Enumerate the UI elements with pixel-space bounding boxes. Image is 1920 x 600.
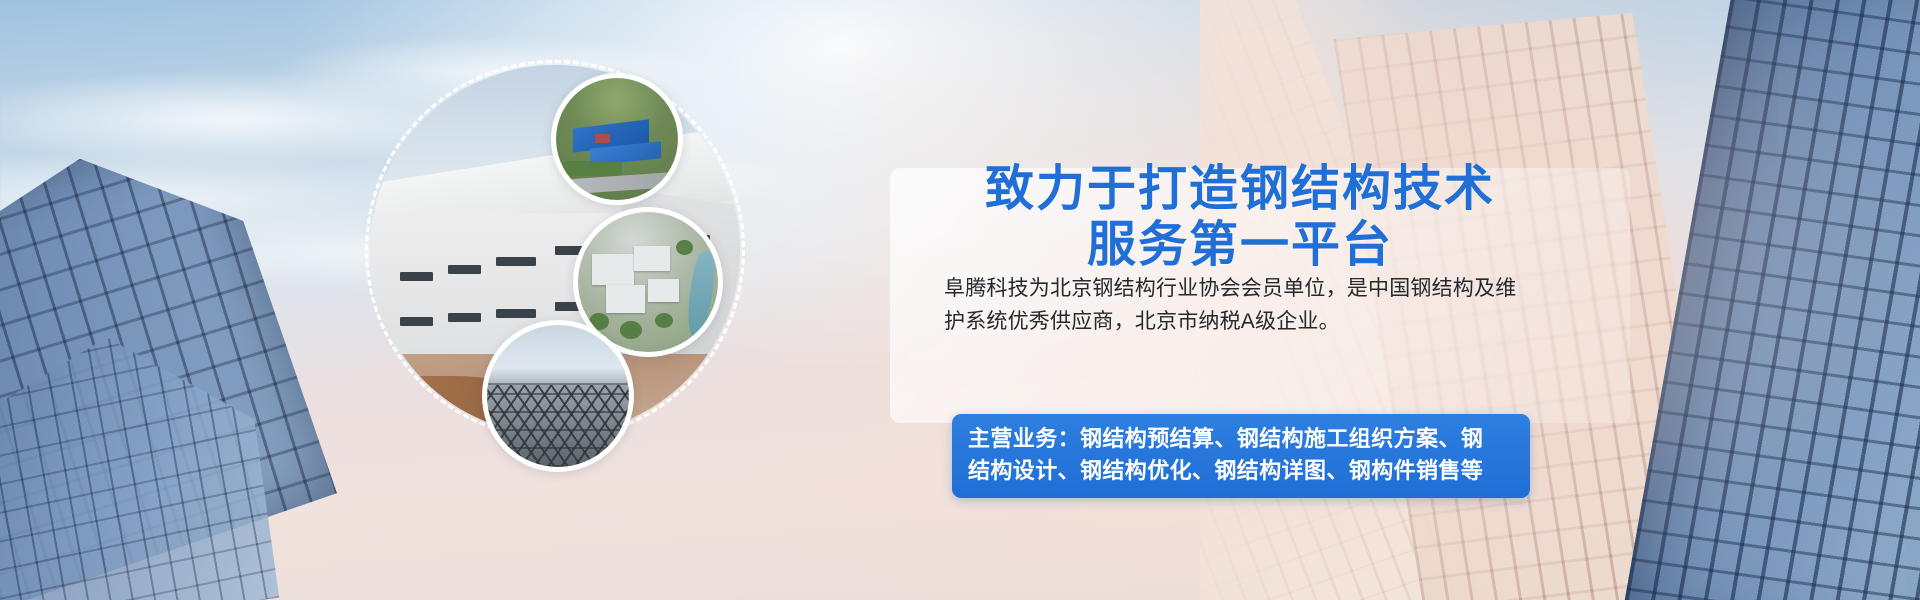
factory-circle-ring: [551, 73, 683, 205]
description-line-1: 阜腾科技为北京钢结构行业协会会员单位，是中国钢结构及维: [944, 272, 1584, 305]
description-line-2: 护系统优秀供应商，北京市纳税A级企业。: [944, 305, 1584, 338]
truss-circle-ring: [482, 320, 634, 472]
hero-banner: 致力于打造钢结构技术 服务第一平台 阜腾科技为北京钢结构行业协会会员单位，是中国…: [0, 0, 1920, 600]
business-scope-box: 主营业务：钢结构预结算、钢结构施工组织方案、钢 结构设计、钢结构优化、钢结构详图…: [952, 414, 1530, 498]
page-title: 致力于打造钢结构技术 服务第一平台: [890, 160, 1590, 272]
business-line-2: 结构设计、钢结构优化、钢结构详图、钢构件销售等: [968, 455, 1514, 487]
company-description: 阜腾科技为北京钢结构行业协会会员单位，是中国钢结构及维 护系统优秀供应商，北京市…: [944, 272, 1584, 338]
business-line-1: 主营业务：钢结构预结算、钢结构施工组织方案、钢: [968, 423, 1514, 455]
headline-line-1: 致力于打造钢结构技术: [890, 160, 1590, 216]
headline-line-2: 服务第一平台: [890, 216, 1590, 272]
